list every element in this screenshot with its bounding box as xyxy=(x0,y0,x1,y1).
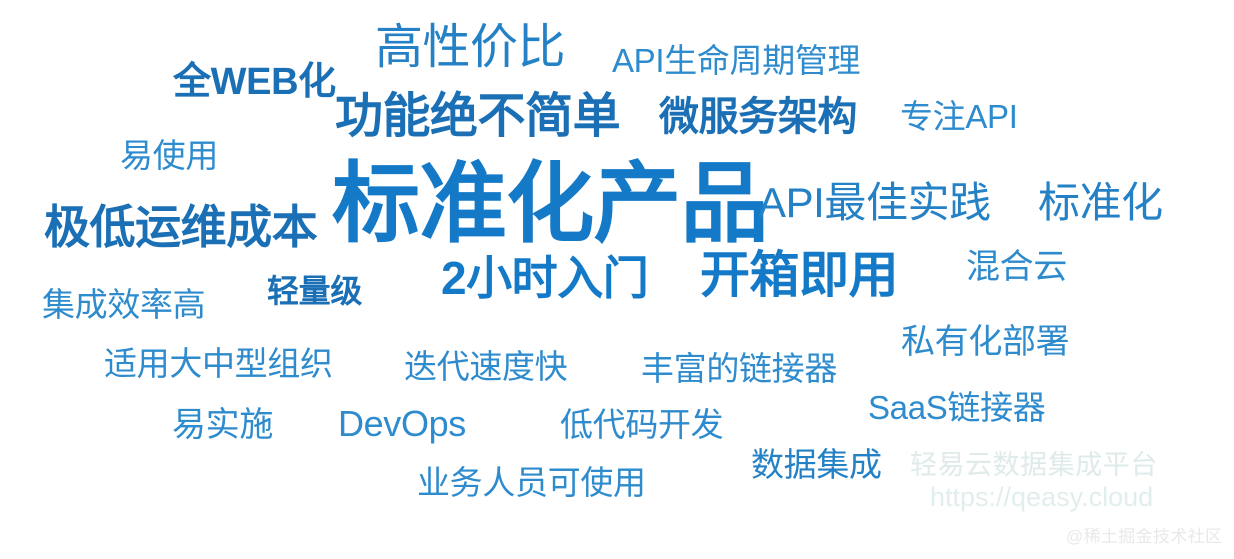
wordcloud-word: 丰富的链接器 xyxy=(641,352,837,385)
wordcloud-word: 开箱即用 xyxy=(700,250,898,300)
wordcloud-word: 轻量级 xyxy=(267,275,362,307)
wordcloud-canvas: 标准化产品功能绝不简单极低运维成本2小时入门开箱即用微服务架构全WEB化轻量级高… xyxy=(0,0,1234,559)
wordcloud-word: DevOps xyxy=(338,406,466,442)
wordcloud-word: 专注API xyxy=(900,100,1018,133)
wordcloud-word: 低代码开发 xyxy=(560,408,723,441)
wordcloud-word: 功能绝不简单 xyxy=(335,93,620,141)
wordcloud-word: 微服务架构 xyxy=(659,97,857,137)
wordcloud-word: 集成效率高 xyxy=(42,288,205,321)
wordcloud-word: 业务人员可使用 xyxy=(417,466,646,499)
watermark-brand: 轻易云数据集成平台 xyxy=(910,450,1158,481)
wordcloud-word: 迭代速度快 xyxy=(404,350,567,383)
wordcloud-word: 2小时入门 xyxy=(441,255,648,301)
wordcloud-word: 私有化部署 xyxy=(901,325,1069,359)
wordcloud-word: 标准化 xyxy=(1038,182,1163,224)
wordcloud-word: 易实施 xyxy=(172,408,273,442)
wordcloud-word: 数据集成 xyxy=(751,448,882,481)
wordcloud-word: 极低运维成本 xyxy=(44,204,317,250)
wordcloud-word: 全WEB化 xyxy=(173,63,336,101)
wordcloud-word: API生命周期管理 xyxy=(612,44,860,77)
watermark-url: https://qeasy.cloud xyxy=(930,482,1153,513)
wordcloud-word: API最佳实践 xyxy=(758,182,991,224)
watermark-credit: @稀土掘金技术社区 xyxy=(1066,527,1222,547)
wordcloud-word: 标准化产品 xyxy=(332,160,768,248)
wordcloud-word: 适用大中型组织 xyxy=(104,347,333,380)
wordcloud-word: 混合云 xyxy=(966,250,1067,284)
wordcloud-word: 高性价比 xyxy=(375,24,565,72)
wordcloud-word: SaaS链接器 xyxy=(868,391,1045,424)
wordcloud-word: 易使用 xyxy=(120,139,218,172)
